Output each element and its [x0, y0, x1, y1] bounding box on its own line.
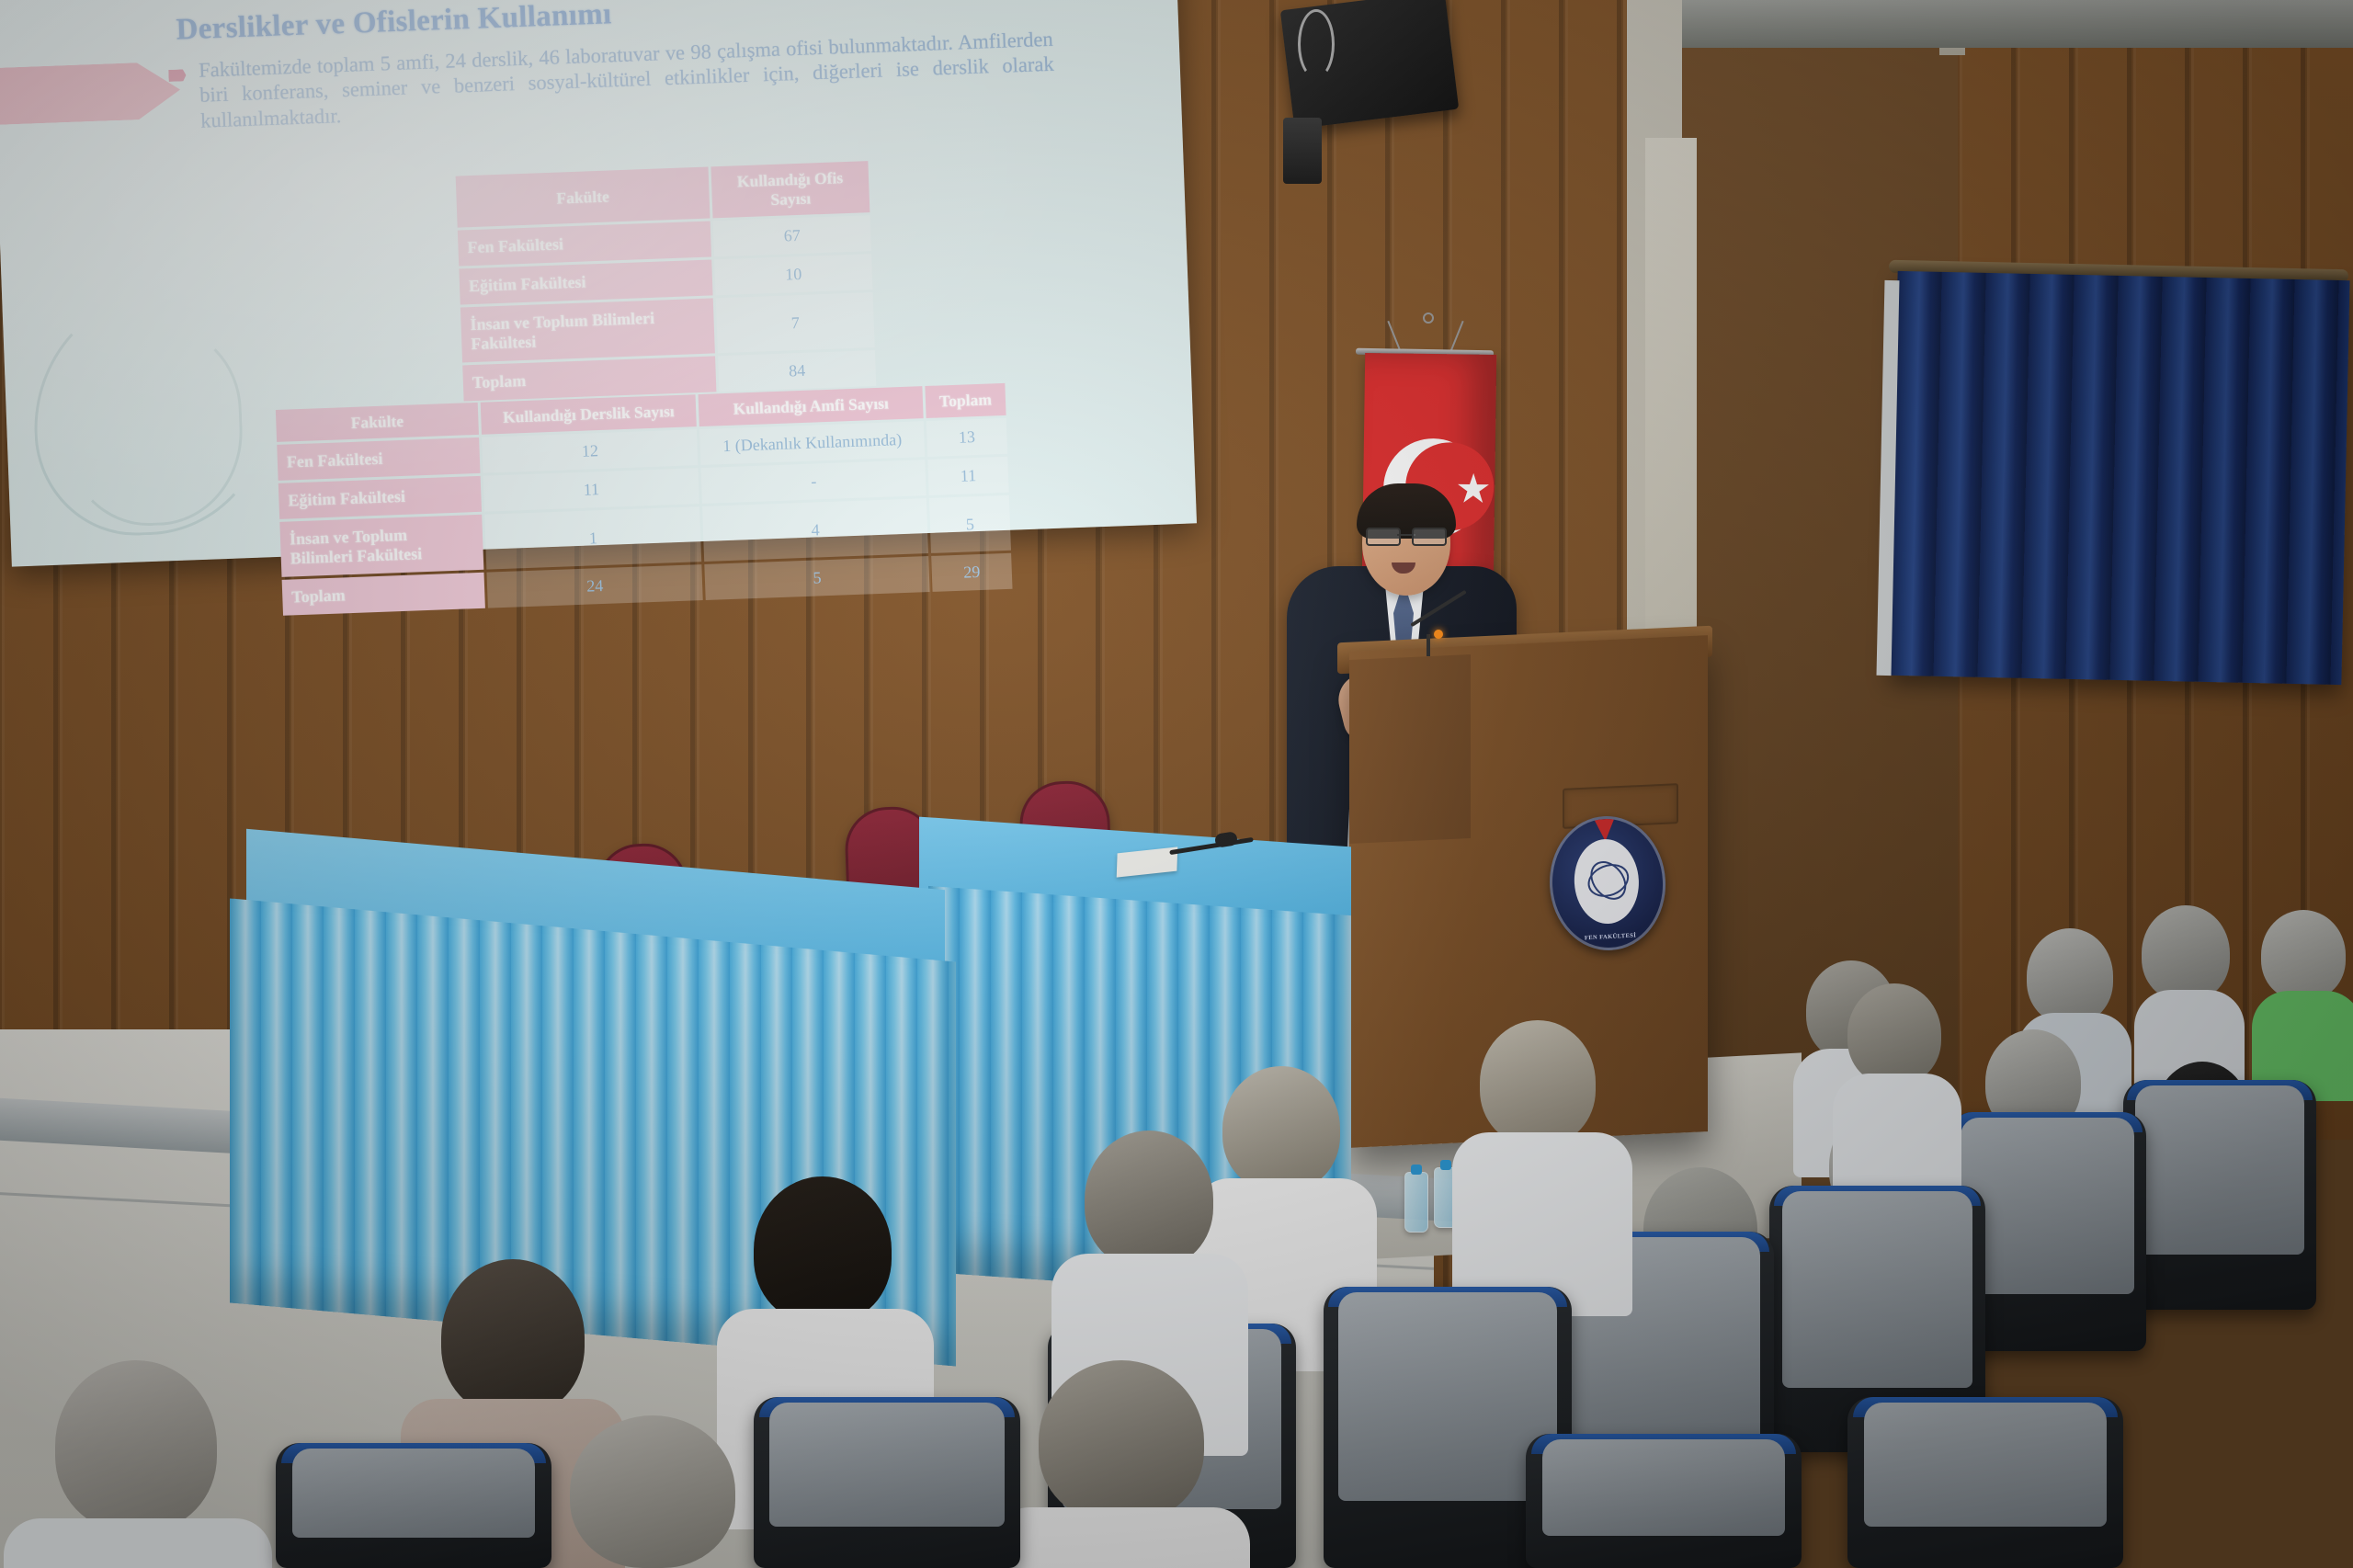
col-total: Toplam	[925, 383, 1006, 418]
projection-screen: Derslikler ve Ofislerin Kullanımı Fakült…	[0, 0, 1197, 567]
col-classroom-count: Kullandığı Derslik Sayısı	[481, 394, 697, 435]
auditorium-seat	[276, 1443, 551, 1568]
col-faculty: Fakülte	[456, 167, 710, 228]
conference-hall-photo: Derslikler ve Ofislerin Kullanımı Fakült…	[0, 0, 2353, 1568]
slide-arrow-decoration	[0, 62, 181, 126]
col-amphi-count: Kullandığı Amfi Sayısı	[699, 386, 924, 426]
auditorium-seat	[1526, 1434, 1802, 1568]
auditorium-seat	[1847, 1397, 2123, 1568]
table-classroom-usage: Fakülte Kullandığı Derslik Sayısı Kullan…	[273, 381, 1016, 619]
col-faculty: Fakülte	[276, 403, 479, 442]
table-office-usage: Fakülte Kullandığı Ofis Sayısı Fen Fakül…	[453, 158, 880, 404]
speaker-wall-bracket	[1283, 118, 1322, 184]
window-curtain	[1889, 271, 2349, 685]
water-bottle	[1404, 1172, 1428, 1233]
stone-pillar-2	[1645, 138, 1697, 708]
slide-bullet-text: Fakültemizde toplam 5 amfi, 24 derslik, …	[199, 27, 1055, 133]
arrow-bullet-icon	[168, 69, 186, 82]
auditorium-seat	[754, 1397, 1020, 1568]
microphone-led-indicator	[1434, 630, 1443, 639]
emblem-tc-ribbon	[1594, 819, 1615, 842]
ceiling-beam	[1682, 0, 2353, 48]
flag-hook	[1423, 312, 1434, 324]
eyeglasses-icon	[1366, 528, 1447, 542]
auditorium-seat	[2123, 1080, 2316, 1310]
microphone-stand	[1427, 634, 1430, 656]
podium-side-wing	[1349, 654, 1471, 844]
presentation-slide: Derslikler ve Ofislerin Kullanımı Fakült…	[0, 0, 1197, 567]
col-office-count: Kullandığı Ofis Sayısı	[710, 161, 870, 218]
speaker-cable	[1298, 9, 1335, 79]
